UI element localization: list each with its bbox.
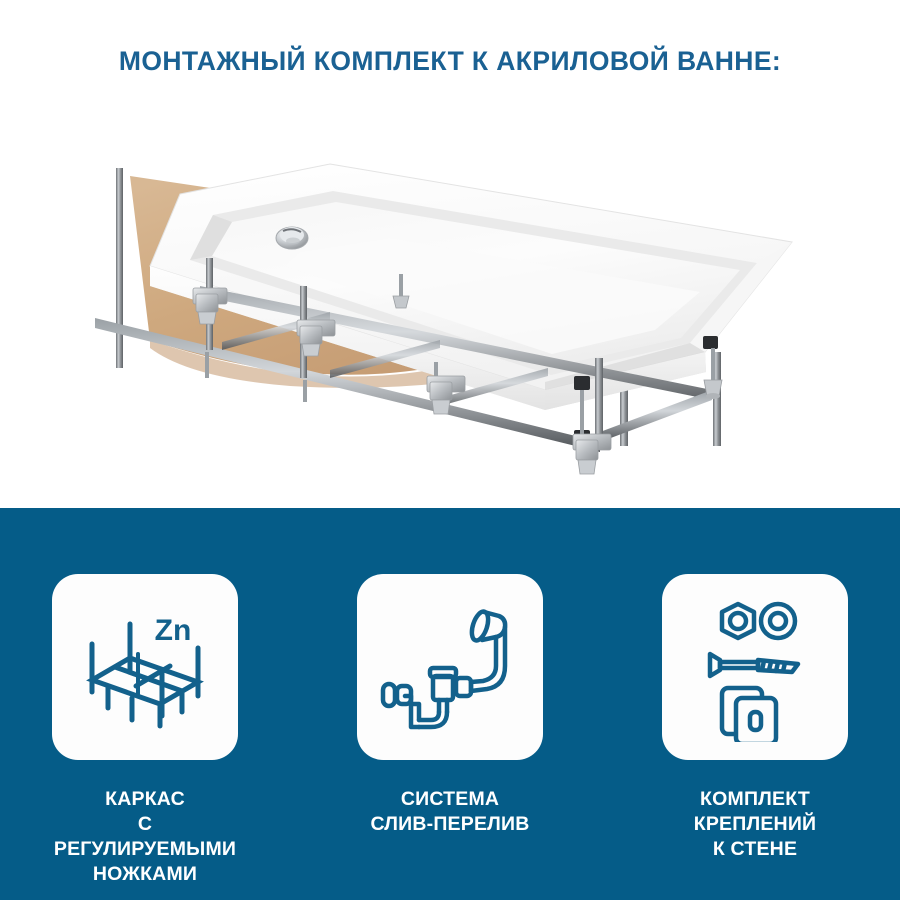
feature-frame-adjustable-legs[interactable]: Zn КАРКАС С РЕГУЛИРУЕМЫМИ НОЖКАМИ [50, 574, 240, 887]
page-title: МОНТАЖНЫЙ КОМПЛЕКТ К АКРИЛОВОЙ ВАННЕ: [0, 46, 900, 77]
chrome-overflow-fitting [276, 227, 308, 249]
features-section: Zn КАРКАС С РЕГУЛИРУЕМЫМИ НОЖКАМИ [0, 508, 900, 900]
zinc-symbol-text: Zn [155, 614, 192, 647]
feature-label-2: СИСТЕМА СЛИВ-ПЕРЕЛИВ [370, 787, 529, 837]
feature-card-1[interactable]: Zn [52, 574, 238, 760]
feature-card-2[interactable] [357, 574, 543, 760]
feature-label-1: КАРКАС С РЕГУЛИРУЕМЫМИ НОЖКАМИ [50, 787, 240, 887]
feature-wall-fasteners[interactable]: КОМПЛЕКТ КРЕПЛЕНИЙ К СТЕНЕ [660, 574, 850, 862]
feature-drain-overflow[interactable]: СИСТЕМА СЛИВ-ПЕРЕЛИВ [355, 574, 545, 837]
frame-zinc-icon: Zn [70, 592, 220, 742]
features-row: Zn КАРКАС С РЕГУЛИРУЕМЫМИ НОЖКАМИ [0, 508, 900, 900]
wall-fasteners-icon [680, 592, 830, 742]
header-section: МОНТАЖНЫЙ КОМПЛЕКТ К АКРИЛОВОЙ ВАННЕ: [0, 0, 900, 508]
drain-overflow-icon [375, 592, 525, 742]
product-photo [0, 90, 900, 505]
feature-label-3: КОМПЛЕКТ КРЕПЛЕНИЙ К СТЕНЕ [694, 787, 817, 862]
feature-card-3[interactable] [662, 574, 848, 760]
acrylic-bathtub [130, 164, 792, 410]
